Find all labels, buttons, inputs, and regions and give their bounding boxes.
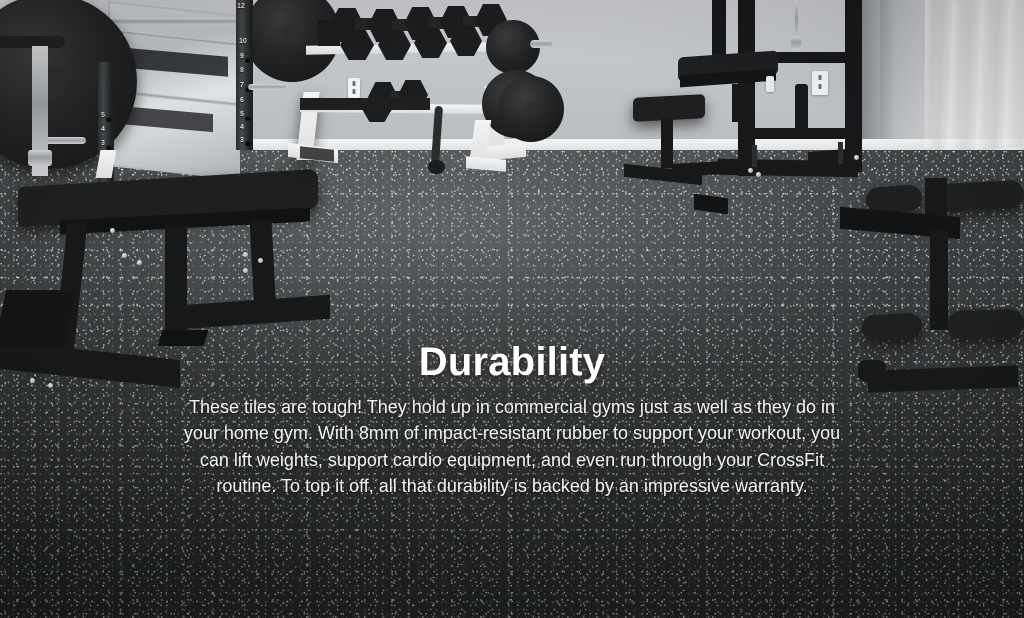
cable-carabiner bbox=[791, 36, 801, 50]
preacher-pad-support bbox=[732, 84, 746, 122]
leg-roller-pad-lower bbox=[861, 312, 922, 341]
bench-bolt bbox=[110, 228, 115, 233]
machine-spring bbox=[752, 145, 757, 167]
overlay-body-text: These tiles are tough! They hold up in c… bbox=[182, 394, 842, 500]
wall-outlet-left bbox=[348, 78, 360, 98]
rack-upright-right bbox=[236, 0, 253, 150]
bench-bolt bbox=[243, 268, 248, 273]
leg-bench-post bbox=[930, 230, 948, 330]
bench-bolt bbox=[137, 260, 142, 265]
leg-roller-pad-lower bbox=[948, 309, 1024, 340]
rack-j-hook-pin bbox=[248, 84, 286, 90]
rack-collar-clamp bbox=[28, 150, 52, 166]
wall-outlet-plate bbox=[766, 76, 774, 92]
gym-photo-banner: 12 10 9 8 7 6 5 4 3 5 4 3 2 1 bbox=[0, 0, 1024, 618]
cable-wire bbox=[795, 0, 798, 40]
bench-bolt bbox=[122, 253, 127, 258]
weight-stack-selector bbox=[795, 84, 808, 130]
machine-spring bbox=[838, 142, 843, 164]
machine-bolt bbox=[748, 168, 753, 173]
weight-plate bbox=[498, 76, 564, 142]
page-title: Durability bbox=[120, 340, 904, 385]
cable-machine-post bbox=[712, 0, 726, 60]
dumbbell bbox=[318, 20, 340, 46]
bench-bolt bbox=[258, 258, 263, 263]
rack-j-hook-pin bbox=[44, 137, 86, 144]
rope-knot bbox=[428, 160, 445, 174]
wall-outlet-right bbox=[812, 71, 828, 95]
machine-bolt bbox=[756, 172, 761, 177]
bench-bolt bbox=[243, 252, 248, 257]
dumbbell-rack-bar bbox=[300, 98, 430, 110]
plate-post bbox=[530, 40, 552, 48]
seat-post bbox=[661, 118, 673, 168]
machine-bolt bbox=[854, 155, 859, 160]
cable-machine-upright-right bbox=[845, 0, 862, 172]
text-overlay: Durability These tiles are tough! They h… bbox=[0, 340, 1024, 500]
leg-roller-pad bbox=[935, 180, 1024, 213]
